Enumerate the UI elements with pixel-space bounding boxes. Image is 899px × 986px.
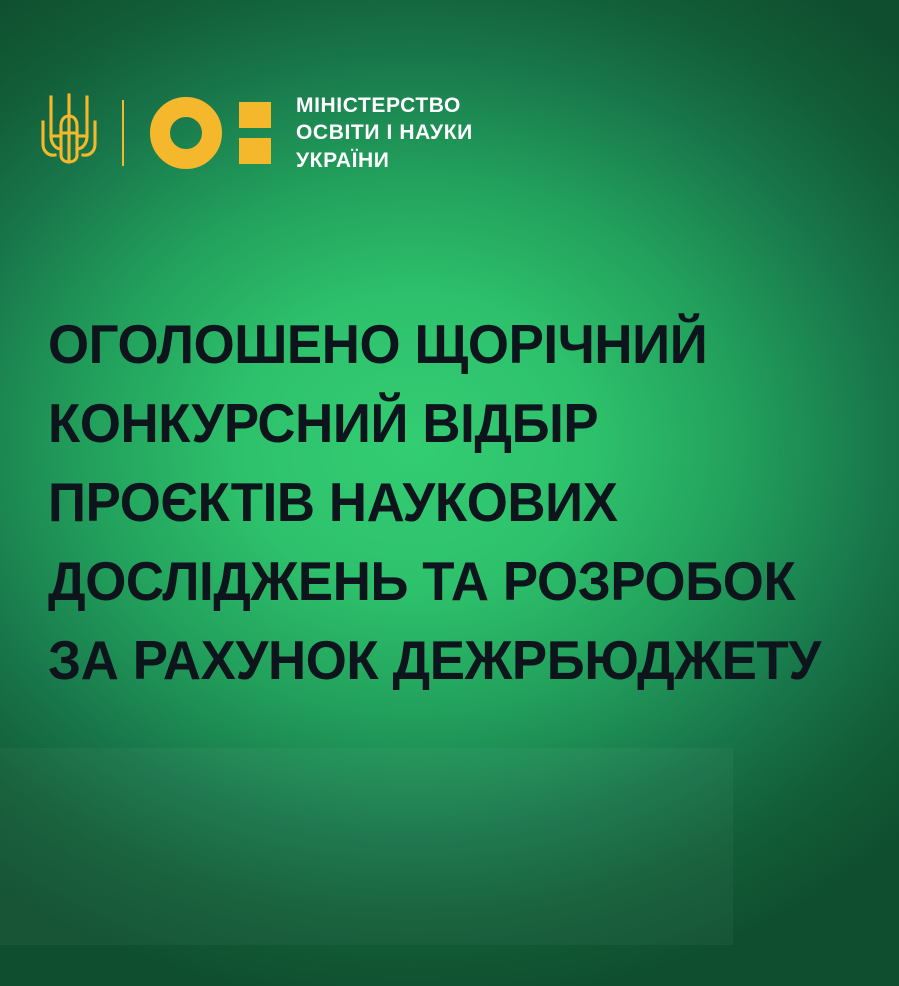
headline-line-5: ЗА РАХУНОК ДЕЖРБЮДЖЕТУ: [48, 621, 854, 700]
background-accent-block: [0, 748, 733, 945]
headline-line-4: ДОСЛІДЖЕНЬ ТА РОЗРОБОК: [48, 542, 854, 621]
headline-line-1: ОГОЛОШЕНО ЩОРІЧНИЙ: [48, 305, 854, 384]
vertical-divider-icon: [122, 100, 124, 166]
ministry-name-line-1: МІНІСТЕРСТВО: [296, 92, 473, 119]
o-ring-icon: [150, 97, 222, 169]
mon-brandmark-icon: [150, 97, 271, 169]
ministry-logo-lockup: МІНІСТЕРСТВО ОСВІТИ І НАУКИ УКРАЇНИ: [40, 90, 473, 176]
ministry-name-line-3: УКРАЇНИ: [296, 147, 473, 174]
headline-line-3: ПРОЄКТІВ НАУКОВИХ: [48, 463, 854, 542]
ministry-name-line-2: ОСВІТИ І НАУКИ: [296, 119, 473, 146]
equals-bar-bottom-icon: [239, 138, 271, 164]
ministry-name: МІНІСТЕРСТВО ОСВІТИ І НАУКИ УКРАЇНИ: [296, 92, 473, 174]
headline-line-2: КОНКУРСНИЙ ВІДБІР: [48, 384, 854, 463]
announcement-poster: МІНІСТЕРСТВО ОСВІТИ І НАУКИ УКРАЇНИ ОГОЛ…: [0, 0, 899, 986]
page-title: ОГОЛОШЕНО ЩОРІЧНИЙ КОНКУРСНИЙ ВІДБІР ПРО…: [48, 305, 888, 700]
ukrainian-trident-icon: [40, 92, 98, 174]
equals-bars-icon: [239, 102, 271, 164]
equals-bar-top-icon: [239, 102, 271, 128]
